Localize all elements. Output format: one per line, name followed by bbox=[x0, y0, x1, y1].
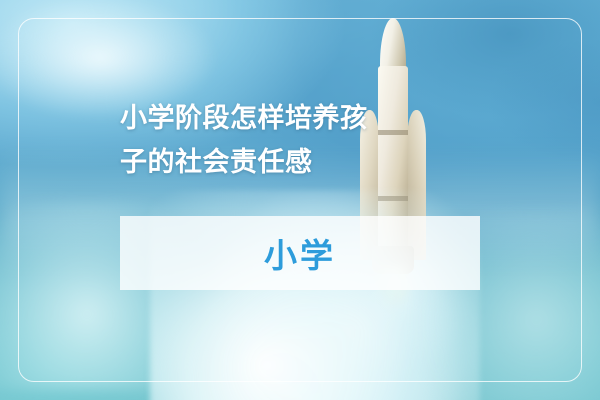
poster-title-line-2: 子的社会责任感 bbox=[120, 140, 480, 184]
poster-title-line-1: 小学阶段怎样培养孩 bbox=[120, 96, 480, 140]
category-tag-bar: 小学 bbox=[120, 216, 480, 290]
poster-title: 小学阶段怎样培养孩 子的社会责任感 bbox=[120, 96, 480, 184]
rocket-nose-cone bbox=[380, 18, 406, 72]
category-tag-label: 小学 bbox=[264, 229, 336, 277]
poster-canvas: 小学阶段怎样培养孩 子的社会责任感 小学 bbox=[0, 0, 600, 400]
